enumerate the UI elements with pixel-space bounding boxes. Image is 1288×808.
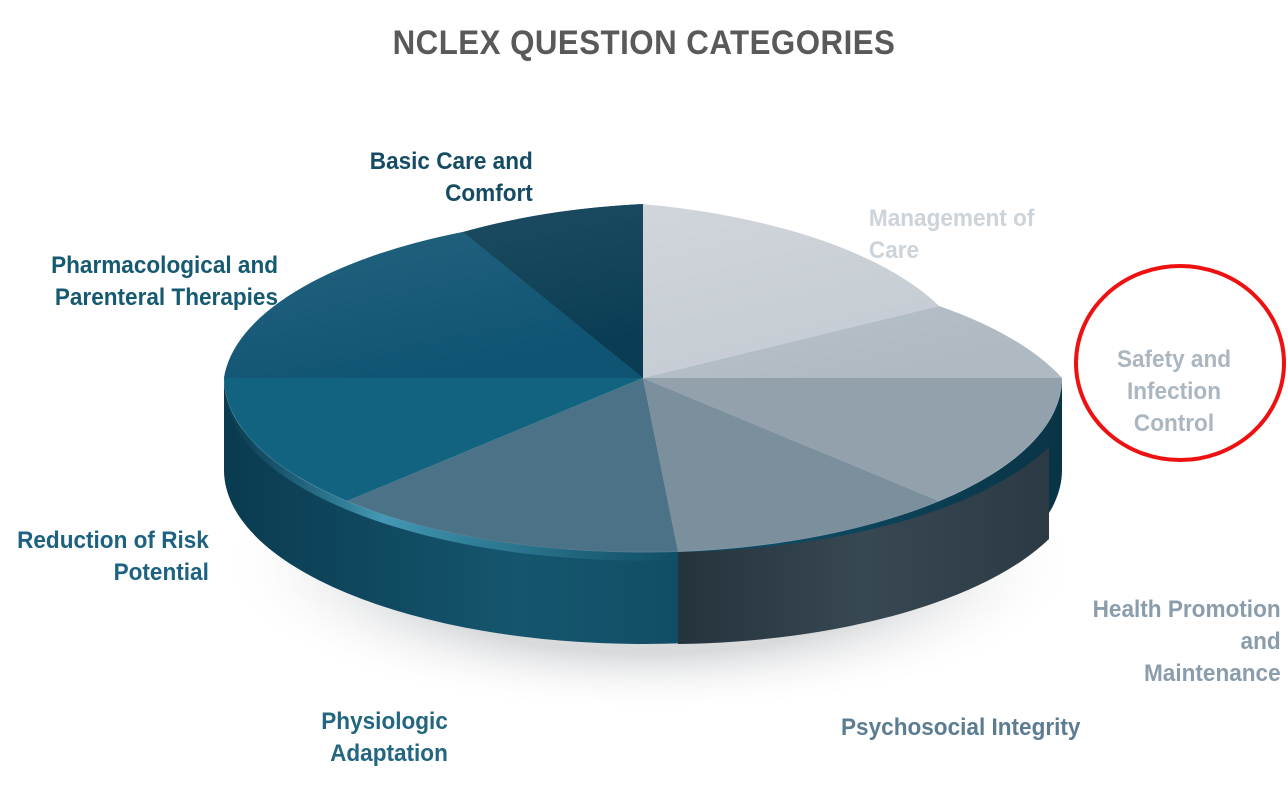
- label-pharmacological-and-parenteral-therapies: Pharmacological and Parenteral Therapies: [28, 250, 278, 314]
- label-management-of-care: Management of Care: [869, 203, 1085, 267]
- slice-sheen-dark: [224, 204, 643, 378]
- label-reduction-of-risk-potential: Reduction of Risk Potential: [16, 525, 209, 589]
- label-safety-and-infection-control: Safety and Infection Control: [1067, 344, 1281, 440]
- label-physiologic-adaptation: Physiologic Adaptation: [256, 706, 448, 770]
- label-basic-care-and-comfort: Basic Care and Comfort: [307, 146, 533, 210]
- label-psychosocial-integrity: Psychosocial Integrity: [841, 712, 1123, 744]
- chart-canvas: NCLEX QUESTION CATEGORIES: [0, 0, 1288, 808]
- label-health-promotion-and-maintenance: Health Promotion and Maintenance: [1050, 594, 1280, 690]
